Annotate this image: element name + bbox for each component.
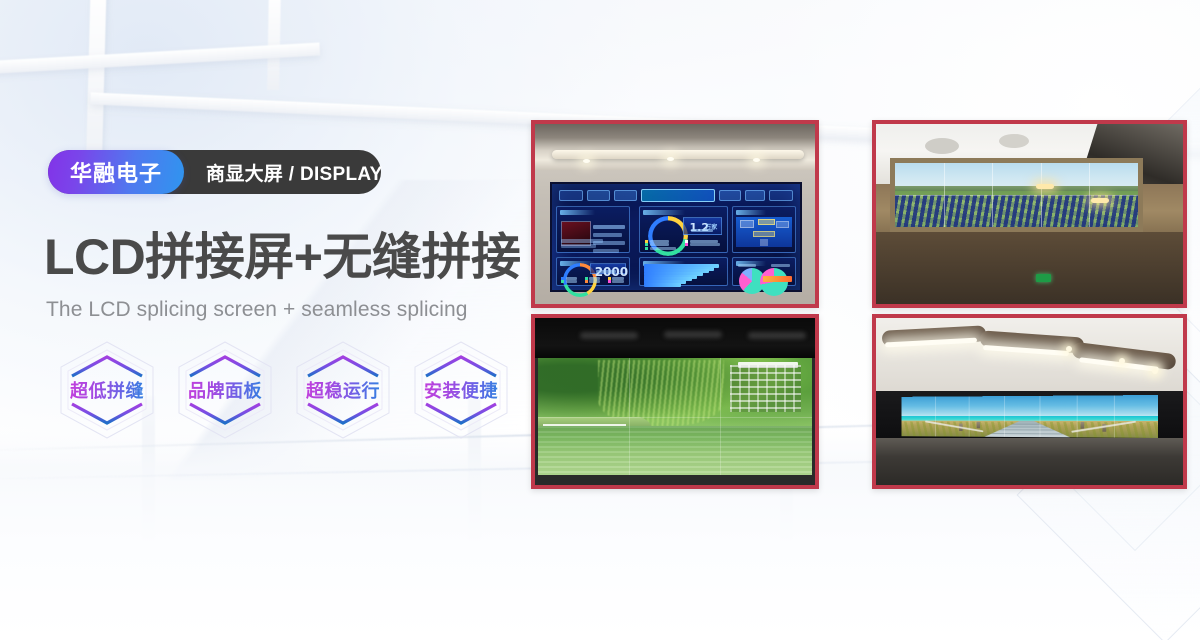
donut-chart	[648, 216, 688, 256]
ceiling-reflection-3	[748, 332, 806, 339]
dashboard-card-donut: 1.2 万家	[639, 206, 728, 253]
card-header	[736, 210, 766, 215]
dashboard-card-ranking	[639, 257, 728, 286]
legend-label	[650, 247, 676, 250]
kpi-caption	[596, 270, 616, 273]
feature-list: 超低拼缝 品牌面板	[48, 334, 520, 446]
kpi-caption	[691, 229, 713, 232]
legend-label	[612, 280, 624, 283]
boardwalk-plank	[984, 433, 1071, 434]
banner-copy: 华融电子 商显大屏 / DISPLAY LCD拼接屏+无缝拼接 The LCD …	[0, 0, 540, 640]
calendar-overlay	[730, 365, 801, 412]
dashboard-card-flow	[732, 206, 796, 253]
dashboard-title	[641, 189, 715, 202]
screen-seam	[1114, 395, 1115, 438]
legend-swatch	[685, 243, 688, 246]
spotlight-1	[583, 159, 590, 163]
photo-content	[876, 124, 1183, 304]
feature-label: 超低拼缝	[68, 377, 146, 403]
photo-content: 1.2 万家	[535, 124, 815, 304]
card-text-line	[593, 225, 625, 229]
dashboard-card-gauge: 2000	[556, 257, 630, 286]
legend-label	[690, 240, 718, 243]
water-reflection	[538, 426, 812, 475]
dashboard-card-pies	[732, 257, 796, 286]
legend-swatch	[685, 240, 688, 243]
feature-item-3: 安装便捷	[402, 334, 520, 446]
ceiling-reflection-1	[580, 332, 638, 339]
sky	[901, 395, 1158, 418]
card-text-line	[593, 249, 619, 253]
spotlight-2	[667, 157, 674, 161]
dashboard-tab-4	[745, 190, 766, 201]
lcd-splicing-screen: 1.2 万家	[550, 182, 802, 292]
ceiling-light-2	[1091, 198, 1109, 203]
dashboard-timestamp	[559, 190, 583, 201]
kpi-panel: 2000	[590, 263, 626, 274]
legend-swatch	[645, 247, 648, 250]
pie-legend	[771, 264, 790, 267]
flow-node	[740, 220, 754, 228]
lcd-splicing-screen	[895, 163, 1138, 227]
feature-item-2: 超稳运行	[284, 334, 402, 446]
legend-swatch	[645, 243, 648, 246]
pie-legend	[738, 264, 757, 267]
ceiling-reflection-2	[664, 331, 722, 338]
flow-node	[760, 239, 768, 246]
card-header	[560, 210, 595, 215]
banner-stage: 华融电子 商显大屏 / DISPLAY LCD拼接屏+无缝拼接 The LCD …	[0, 0, 1200, 640]
legend-swatch	[645, 240, 648, 243]
legend-label	[650, 243, 669, 246]
dashboard-tab-1	[587, 190, 611, 201]
kpi-panel: 1.2 万家	[683, 217, 721, 235]
screen-seam	[538, 417, 812, 418]
legend-swatch	[561, 280, 564, 283]
feature-label: 安装便捷	[422, 377, 500, 403]
feature-item-1: 品牌面板	[166, 334, 284, 446]
card-text-line	[593, 233, 622, 237]
photo-content	[876, 318, 1183, 485]
screen-seam	[969, 396, 970, 437]
rope-post-left	[976, 421, 980, 428]
card-text-line	[561, 239, 603, 243]
card-header	[643, 210, 685, 215]
screen-seam	[1076, 395, 1077, 437]
screen-seam	[1004, 396, 1005, 437]
legend-label	[690, 243, 720, 246]
lcd-splicing-screen	[901, 395, 1158, 438]
dashboard-card-intro	[556, 206, 630, 253]
brand-badge-group: 华融电子 商显大屏 / DISPLAY	[48, 150, 409, 194]
photo-willow-lake-video-wall[interactable]	[531, 314, 819, 489]
category-badge-label: 商显大屏 / DISPLAY	[184, 150, 409, 194]
ceiling-speaker	[999, 134, 1029, 148]
ceiling-downlight-2	[1119, 358, 1125, 364]
screen-seam	[1040, 396, 1041, 438]
legend-swatch	[585, 280, 588, 283]
legend-label	[566, 280, 578, 283]
card-text-line	[561, 244, 596, 248]
ceiling-cove-light	[552, 150, 804, 159]
flow-node	[753, 231, 776, 238]
exit-sign-icon	[1036, 274, 1051, 282]
photo-beach-boardwalk-video-wall[interactable]	[872, 314, 1187, 489]
photo-solar-farm-video-wall[interactable]	[872, 120, 1187, 308]
pie-footer-tag	[763, 276, 792, 282]
lcd-splicing-screen	[538, 358, 812, 475]
dashboard-status	[769, 190, 793, 201]
brand-badge: 华融电子	[48, 150, 184, 194]
photo-content	[535, 318, 815, 485]
screen-seam	[895, 195, 1138, 196]
feature-label: 超稳运行	[304, 377, 382, 403]
flow-node	[776, 221, 788, 228]
ceiling	[535, 124, 815, 170]
photo-dashboard-video-wall[interactable]: 1.2 万家	[531, 120, 819, 308]
dashboard-tab-2	[614, 190, 636, 201]
legend-label	[650, 240, 669, 243]
screen-seam	[935, 396, 936, 436]
feature-item-0: 超低拼缝	[48, 334, 166, 446]
page-subtitle: The LCD splicing screen + seamless splic…	[46, 298, 468, 322]
polished-floor	[876, 438, 1183, 485]
wood-screen-frame	[890, 158, 1143, 232]
page-title: LCD拼接屏+无缝拼接	[44, 232, 520, 282]
legend-swatch	[608, 280, 611, 283]
wall-lower-panelling	[876, 232, 1183, 304]
feature-label: 品牌面板	[186, 377, 264, 403]
ceiling-vent	[925, 138, 959, 154]
dashboard-tab-3	[719, 190, 741, 201]
dashboard-top-bar	[556, 188, 796, 203]
ceiling-light-1	[1036, 184, 1054, 189]
rank-bar	[644, 283, 681, 287]
legend-label	[589, 280, 601, 283]
rope-post-right	[1081, 422, 1085, 429]
flow-node	[758, 219, 775, 225]
flow-diagram	[736, 217, 792, 247]
